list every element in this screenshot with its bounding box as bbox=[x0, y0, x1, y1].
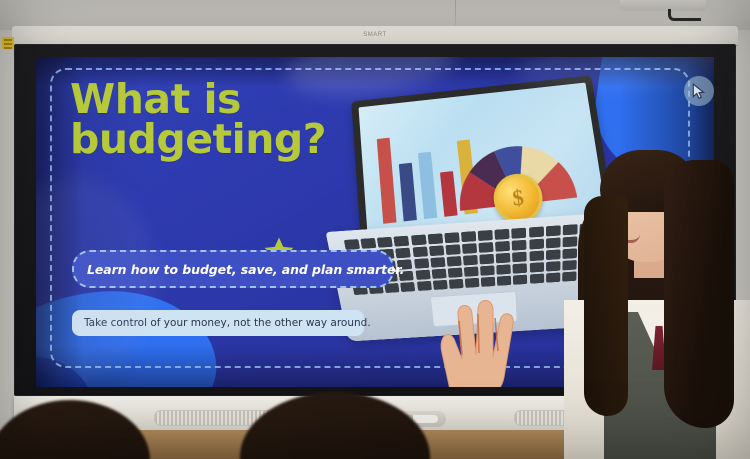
pointer-cursor-icon[interactable] bbox=[684, 76, 714, 106]
key bbox=[462, 243, 477, 254]
key bbox=[377, 237, 393, 248]
key bbox=[344, 239, 360, 250]
presenter-hair-left bbox=[584, 196, 628, 416]
subtitle-primary-pill[interactable]: Learn how to budget, save, and plan smar… bbox=[72, 250, 394, 288]
key bbox=[546, 261, 560, 271]
page-title: What is budgeting? bbox=[70, 79, 370, 159]
key bbox=[497, 264, 512, 274]
subtitle-secondary-text: Take control of your money, not the othe… bbox=[72, 317, 371, 329]
key bbox=[445, 244, 460, 255]
key bbox=[478, 230, 493, 241]
key bbox=[513, 263, 527, 273]
key bbox=[411, 235, 427, 246]
mount-rod bbox=[668, 9, 701, 21]
key bbox=[444, 232, 459, 243]
key bbox=[480, 266, 495, 276]
key bbox=[429, 245, 444, 256]
key bbox=[360, 238, 376, 249]
key bbox=[448, 268, 463, 278]
key bbox=[512, 240, 527, 251]
key bbox=[414, 258, 429, 268]
key bbox=[461, 231, 476, 242]
key bbox=[496, 253, 511, 263]
key bbox=[427, 233, 443, 244]
bar-3 bbox=[418, 151, 437, 219]
key bbox=[415, 270, 430, 280]
hand-illustration bbox=[418, 281, 538, 387]
key bbox=[431, 269, 446, 279]
key bbox=[479, 242, 494, 253]
board-brand-logo: SMART bbox=[355, 31, 395, 39]
key bbox=[401, 282, 416, 292]
key bbox=[412, 247, 427, 258]
key bbox=[394, 236, 410, 247]
key bbox=[546, 225, 561, 236]
title-line-2: budgeting? bbox=[70, 119, 370, 159]
key bbox=[529, 262, 543, 272]
key bbox=[463, 255, 478, 265]
key bbox=[396, 248, 412, 259]
classroom-scene: SMART What is budgetin bbox=[0, 0, 750, 459]
student-presenter bbox=[560, 150, 750, 459]
bar-2 bbox=[399, 163, 417, 222]
subtitle-secondary-pill[interactable]: Take control of your money, not the othe… bbox=[72, 310, 364, 336]
key bbox=[495, 229, 510, 240]
board-corner-tag bbox=[2, 37, 14, 49]
key bbox=[546, 273, 560, 283]
wall-seam bbox=[455, 0, 456, 26]
key bbox=[479, 254, 494, 264]
key bbox=[464, 267, 479, 277]
presenter-hair-right bbox=[664, 160, 734, 428]
subtitle-primary-text: Learn how to budget, save, and plan smar… bbox=[74, 262, 404, 277]
key bbox=[430, 257, 445, 267]
key bbox=[446, 256, 461, 266]
key bbox=[546, 249, 560, 260]
key bbox=[385, 283, 400, 293]
key bbox=[529, 251, 543, 262]
key bbox=[495, 241, 510, 252]
key bbox=[546, 238, 561, 249]
key bbox=[529, 226, 544, 237]
key bbox=[513, 252, 528, 262]
key bbox=[512, 228, 527, 239]
coin-symbol: $ bbox=[511, 186, 525, 209]
key bbox=[529, 239, 544, 250]
